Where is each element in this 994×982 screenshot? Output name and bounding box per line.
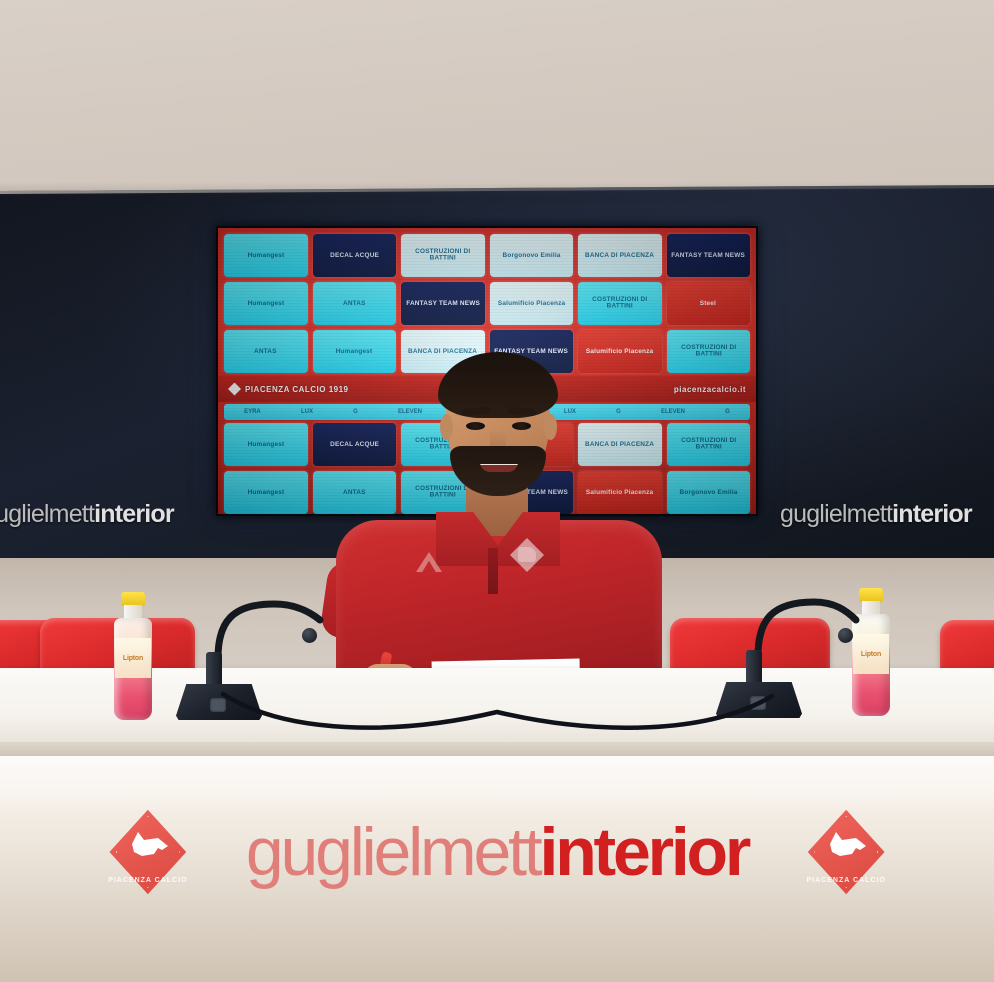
bottle-neck	[124, 605, 142, 619]
microphone-right	[716, 606, 826, 718]
sponsor-tile: COSTRUZIONI DI BATTINI	[578, 282, 662, 325]
sponsor-tile: COSTRUZIONI DI BATTINI	[667, 423, 751, 466]
mic-base-left	[176, 684, 262, 720]
microphone-left	[176, 608, 286, 720]
sponsor-tile: ANTAS	[224, 330, 308, 373]
wolf-head-icon	[128, 828, 170, 862]
polo-placket	[488, 548, 498, 594]
sponsor-tile: FANTASY TEAM NEWS	[667, 234, 751, 277]
club-crest-left: PIACENZA CALCIO	[108, 808, 188, 896]
partner-mark: LUX	[301, 409, 313, 415]
sponsor-tile: Humangest	[224, 234, 308, 277]
partner-mark: EYRA	[244, 409, 261, 415]
wall-logo-right: guglielmettinterior	[780, 500, 972, 529]
sponsor-tile: BANCA DI PIACENZA	[578, 234, 662, 277]
sponsor-tile: Salumificio Piacenza	[490, 282, 574, 325]
wordmark-bold: interior	[540, 814, 749, 890]
partner-mark: G	[725, 409, 730, 415]
sponsor-row-1: Humangest DECAL ACQUE COSTRUZIONI DI BAT…	[224, 234, 750, 277]
eye-right	[512, 422, 531, 430]
mic-capsule-right	[838, 628, 853, 643]
seated-footballer	[318, 352, 678, 682]
bottle-label: Lipton	[115, 638, 151, 678]
sponsor-tile: DECAL ACQUE	[313, 234, 397, 277]
sponsor-tile: Humangest	[224, 282, 308, 325]
sponsor-tile: FANTASY TEAM NEWS	[401, 282, 485, 325]
front-panel-branding: PIACENZA CALCIO guglielmettinterior PIAC…	[0, 792, 994, 912]
upper-wall	[0, 0, 994, 200]
sponsor-tile: Borgonovo Emilia	[490, 234, 574, 277]
sponsor-tile: COSTRUZIONI DI BATTINI	[401, 234, 485, 277]
sponsor-tile: COSTRUZIONI DI BATTINI	[667, 330, 751, 373]
wall-logo-left-bold: interior	[94, 500, 174, 528]
eye-left	[466, 422, 485, 430]
club-crest-right: PIACENZA CALCIO	[806, 808, 886, 896]
mustache	[474, 452, 524, 464]
wall-logo-right-bold: interior	[892, 500, 972, 528]
mic-base-right	[716, 682, 802, 718]
gooseneck-right-icon	[728, 596, 868, 658]
press-conference-photo: guglielmettinterior guglielmettinterior …	[0, 0, 994, 982]
drink-bottle-left: Lipton	[112, 592, 154, 720]
crest-club-name: PIACENZA CALCIO	[108, 877, 188, 884]
sponsor-tile: Humangest	[224, 471, 308, 514]
wolf-head-icon	[826, 828, 868, 862]
hair	[438, 352, 558, 418]
mic-capsule-left	[302, 628, 317, 643]
wall-logo-left-light: guglielmett	[0, 500, 94, 528]
bottle-cap	[121, 592, 145, 606]
guglielmett-interior-wordmark: guglielmettinterior	[246, 818, 748, 886]
wall-logo-right-light: guglielmett	[780, 500, 892, 528]
mic-stem-right	[746, 650, 762, 686]
club-crest-icon	[228, 383, 241, 396]
sponsor-tile: ANTAS	[313, 282, 397, 325]
crest-club-name: PIACENZA CALCIO	[806, 877, 886, 884]
wall-logo-left: guglielmettinterior	[0, 500, 174, 529]
wordmark-light: guglielmett	[246, 814, 540, 890]
sponsor-row-2: Humangest ANTAS FANTASY TEAM NEWS Salumi…	[224, 282, 750, 325]
sponsor-tile: Humangest	[224, 423, 308, 466]
mic-stem-left	[206, 652, 222, 688]
ear-right	[544, 414, 557, 440]
sponsor-tile: Borgonovo Emilia	[667, 471, 751, 514]
desk-front-panel: PIACENZA CALCIO guglielmettinterior PIAC…	[0, 756, 994, 982]
ear-left	[440, 414, 453, 440]
club-website: piacenzacalcio.it	[674, 385, 746, 394]
sponsor-tile: Steel	[667, 282, 751, 325]
